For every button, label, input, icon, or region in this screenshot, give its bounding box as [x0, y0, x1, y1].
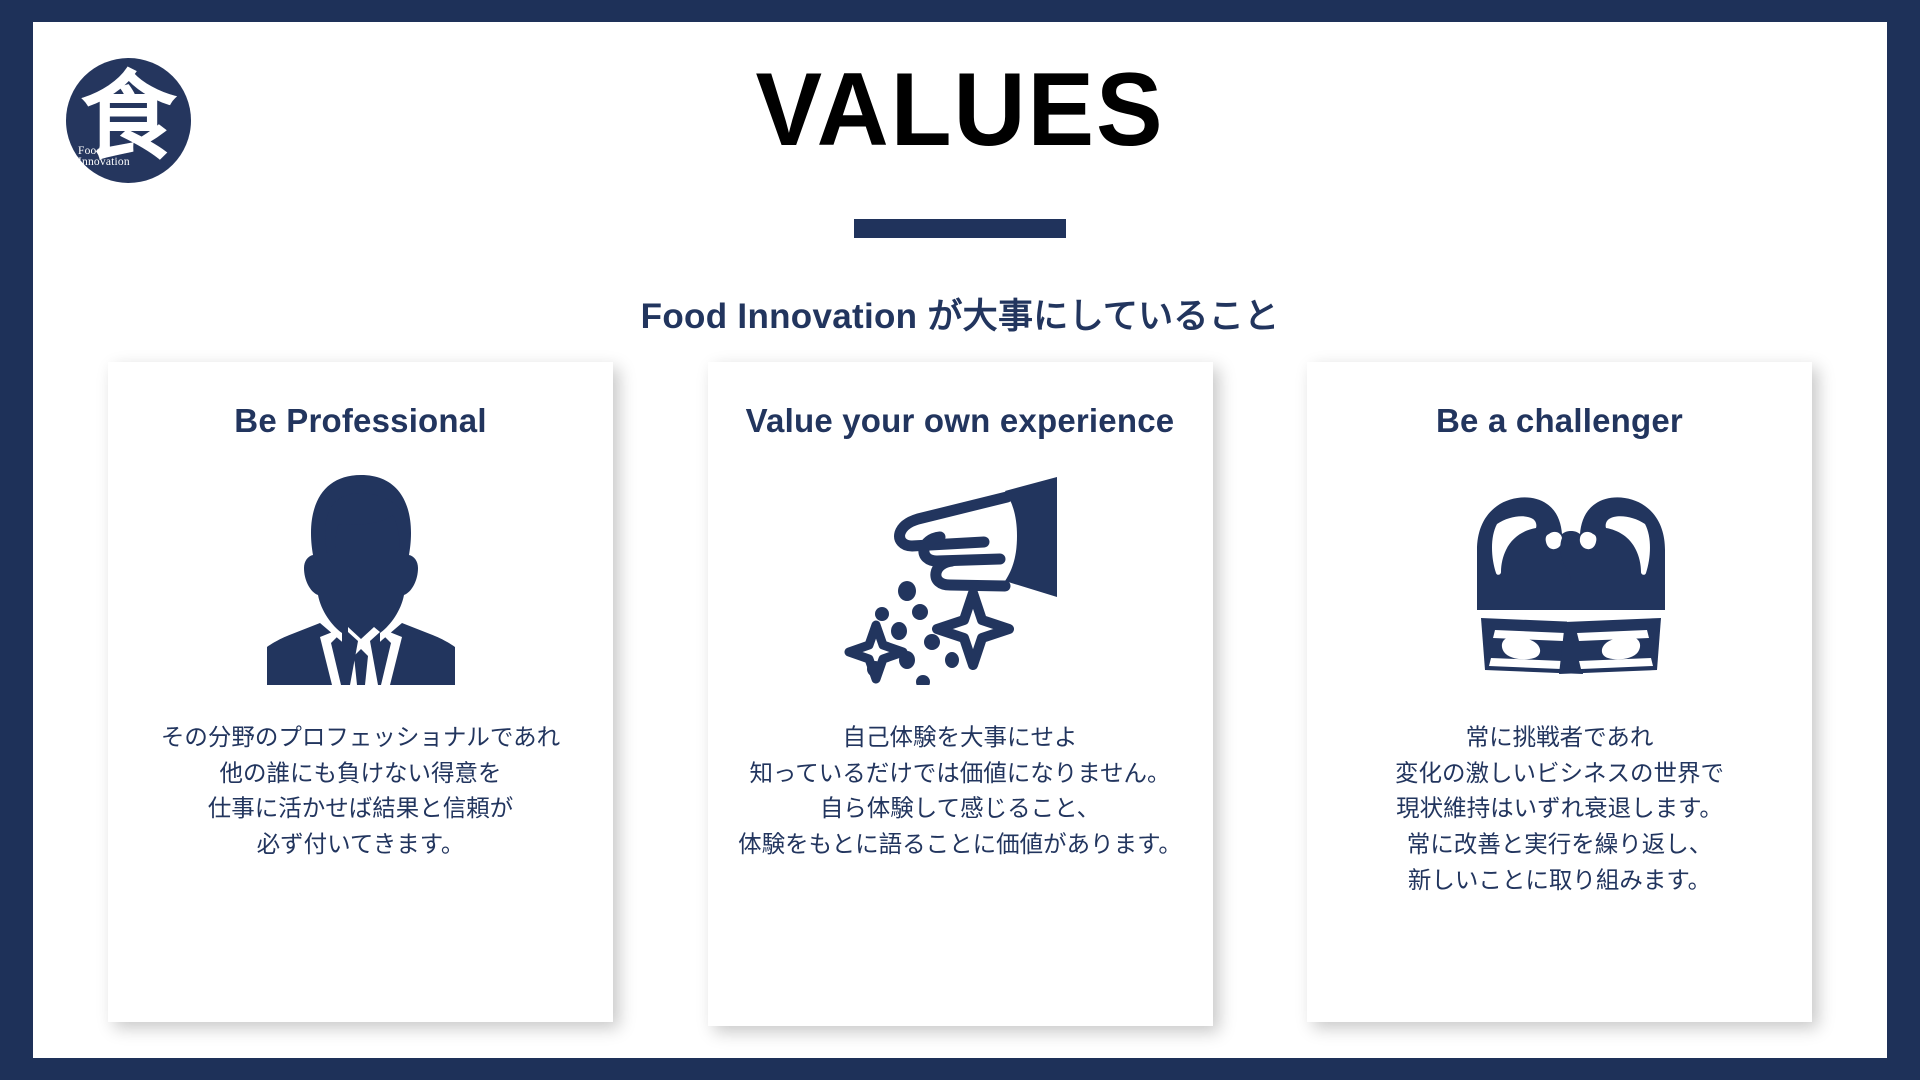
value-card-body-line: 知っているだけでは価値になりません。 — [720, 756, 1201, 792]
value-card-body-line: 新しいことに取り組みます。 — [1319, 863, 1800, 899]
value-card-value-your-own-experience: Value your own experience — [708, 362, 1213, 1026]
value-card-body: 常に挑戦者であれ 変化の激しいビシネスの世界で 現状維持はいずれ衰退します。 常… — [1307, 720, 1812, 899]
value-card-title: Be Professional — [234, 402, 486, 440]
value-card-body-line: 現状維持はいずれ衰退します。 — [1319, 791, 1800, 827]
value-card-be-a-challenger: Be a challenger — [1307, 362, 1812, 1022]
value-card-body: その分野のプロフェッショナルであれ 他の誰にも負けない得意を 仕事に活かせば結果… — [108, 720, 613, 863]
value-card-body-line: 仕事に活かせば結果と信頼が — [120, 791, 601, 827]
value-card-body-line: 常に挑戦者であれ — [1319, 720, 1800, 756]
value-card-body-line: 他の誰にも負けない得意を — [120, 756, 601, 792]
value-card-body-line: 必ず付いてきます。 — [120, 827, 601, 863]
value-card-be-professional: Be Professional その分野のプロフェッショナルであれ 他の誰にも負… — [108, 362, 613, 1022]
value-card-body-line: 体験をもとに語ることに価値があります。 — [720, 827, 1201, 863]
value-card-body-line: その分野のプロフェッショナルであれ — [120, 720, 601, 756]
value-card-body-line: 変化の激しいビシネスの世界で — [1319, 756, 1800, 792]
page-title: VALUES — [70, 54, 1850, 166]
value-card-title: Be a challenger — [1436, 402, 1683, 440]
businessman-icon — [263, 466, 459, 694]
page-subtitle: Food Innovation が大事にしていること — [33, 288, 1887, 339]
value-card-body-line: 自ら体験して感じること、 — [720, 791, 1201, 827]
slide-canvas: 食 Food Innovation VALUES Food Innovation… — [33, 22, 1887, 1058]
boxing-gloves-icon — [1453, 466, 1667, 694]
values-card-list: Be Professional その分野のプロフェッショナルであれ 他の誰にも負… — [108, 362, 1812, 1057]
value-card-body: 自己体験を大事にせよ 知っているだけでは価値になりません。 自ら体験して感じるこ… — [708, 720, 1213, 863]
value-card-body-line: 常に改善と実行を繰り返し、 — [1319, 827, 1800, 863]
value-card-title: Value your own experience — [746, 402, 1175, 440]
value-card-body-line: 自己体験を大事にせよ — [720, 720, 1201, 756]
title-underline-rule — [854, 219, 1066, 238]
hand-sprinkling-icon — [844, 466, 1076, 694]
